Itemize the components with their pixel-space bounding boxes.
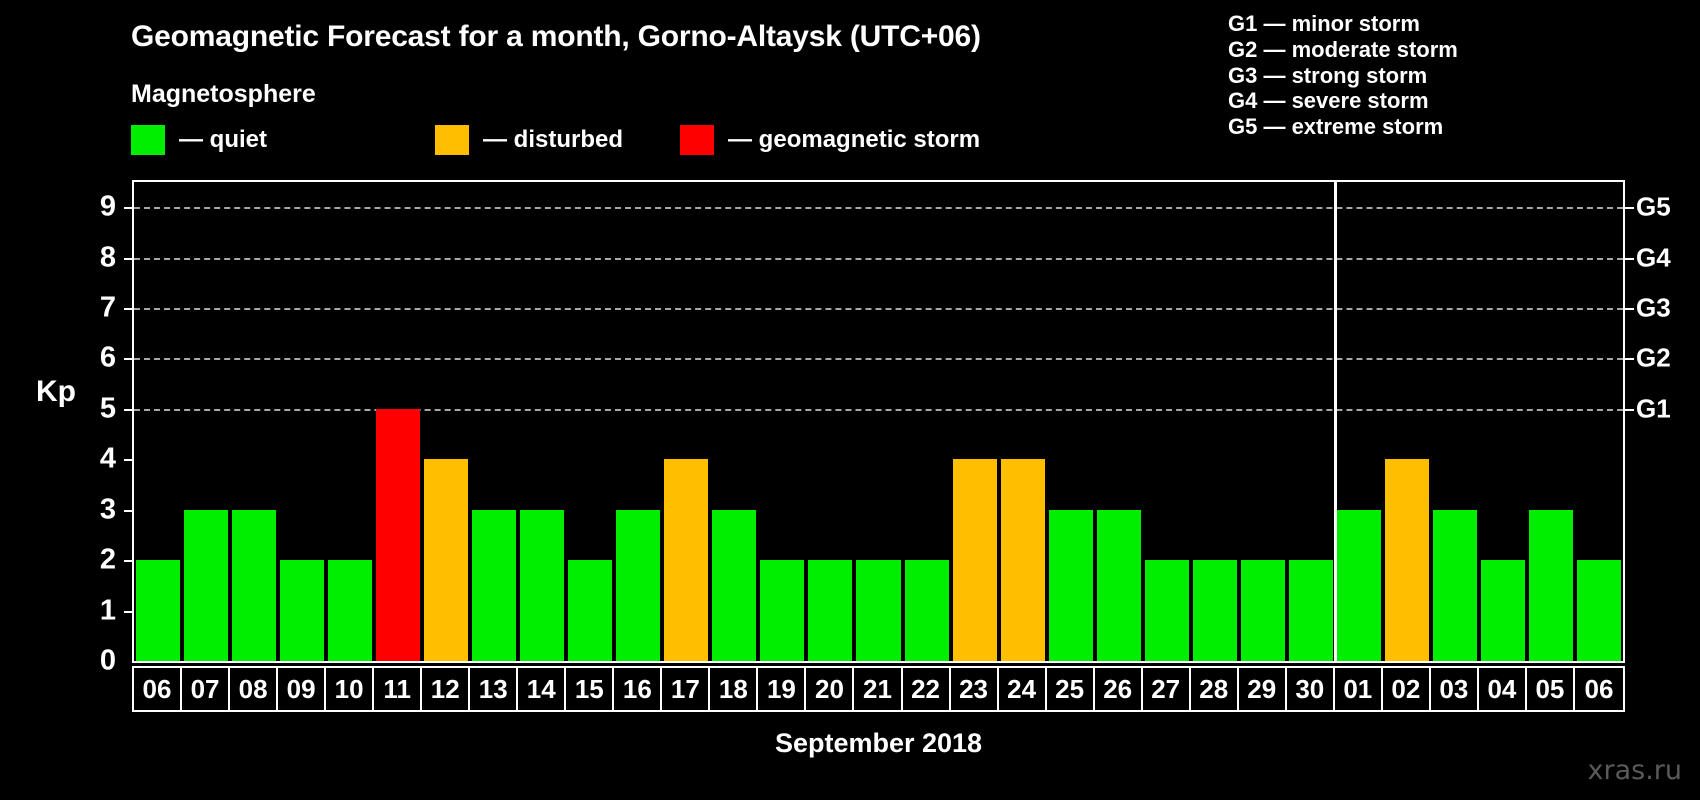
g-tick-mark-G5 [1623,207,1634,209]
y-tick-1: 1 [100,594,116,627]
g-tick-G5: G5 [1636,192,1671,223]
bar-02[interactable] [1385,459,1429,661]
y-tick-3: 3 [100,493,116,526]
y-tick-mark-8 [124,258,134,260]
legend-swatch-storm [680,125,714,155]
geomagnetic-forecast-chart: Geomagnetic Forecast for a month, Gorno-… [0,0,1700,800]
bar-04[interactable] [1481,560,1525,661]
bar-19[interactable] [760,560,804,661]
g-scale-legend: G1 — minor storm G2 — moderate storm G3 … [1228,11,1458,140]
bar-05[interactable] [1529,510,1573,661]
legend-heading: Magnetosphere [131,80,316,109]
y-tick-2: 2 [100,544,116,577]
date-cell-25[interactable]: 25 [1047,668,1095,710]
date-cell-22[interactable]: 22 [903,668,951,710]
bar-12[interactable] [424,459,468,661]
g-scale-line-g3: G3 — strong storm [1228,63,1458,89]
g-scale-line-g5: G5 — extreme storm [1228,114,1458,140]
bar-29[interactable] [1241,560,1285,661]
bar-03[interactable] [1433,510,1477,661]
date-cell-02[interactable]: 02 [1383,668,1431,710]
g-tick-mark-G4 [1623,258,1634,260]
g-scale-line-g2: G2 — moderate storm [1228,37,1458,63]
bar-25[interactable] [1049,510,1093,661]
date-cell-10[interactable]: 10 [326,668,374,710]
date-cell-01[interactable]: 01 [1335,668,1383,710]
bar-01[interactable] [1337,510,1381,661]
bar-27[interactable] [1145,560,1189,661]
page-title: Geomagnetic Forecast for a month, Gorno-… [131,20,981,54]
legend-item-disturbed: — disturbed [435,125,623,155]
g-scale-line-g1: G1 — minor storm [1228,11,1458,37]
date-cell-19[interactable]: 19 [758,668,806,710]
x-axis-caption: September 2018 [132,728,1625,759]
g-tick-G1: G1 [1636,393,1671,424]
legend-item-storm: — geomagnetic storm [680,125,980,155]
g-scale-line-g4: G4 — severe storm [1228,88,1458,114]
watermark: xras.ru [1588,755,1683,786]
date-cell-09[interactable]: 09 [278,668,326,710]
date-cell-12[interactable]: 12 [422,668,470,710]
bar-series [134,182,1623,661]
legend-label-quiet: — quiet [179,126,267,154]
magnetosphere-legend: — quiet — disturbed — geomagnetic storm [131,125,980,155]
g-tick-mark-G1 [1623,409,1634,411]
bar-22[interactable] [905,560,949,661]
date-cell-14[interactable]: 14 [518,668,566,710]
y-tick-mark-4 [124,459,134,461]
date-cell-08[interactable]: 08 [230,668,278,710]
bar-09[interactable] [280,560,324,661]
legend-item-quiet: — quiet [131,125,267,155]
date-cell-17[interactable]: 17 [662,668,710,710]
g-tick-G3: G3 [1636,293,1671,324]
date-cell-29[interactable]: 29 [1239,668,1287,710]
month-divider [1334,182,1337,661]
y-tick-8: 8 [100,241,116,274]
y-tick-0: 0 [100,645,116,678]
bar-08[interactable] [232,510,276,661]
legend-swatch-disturbed [435,125,469,155]
date-cell-06[interactable]: 06 [1575,668,1623,710]
bar-16[interactable] [616,510,660,661]
bar-10[interactable] [328,560,372,661]
bar-20[interactable] [808,560,852,661]
bar-26[interactable] [1097,510,1141,661]
date-cell-23[interactable]: 23 [951,668,999,710]
bar-24[interactable] [1001,459,1045,661]
y-tick-7: 7 [100,292,116,325]
bar-28[interactable] [1193,560,1237,661]
g-axis-ticks: G5G4G3G2G1 [1636,0,1700,800]
y-tick-mark-3 [124,510,134,512]
legend-label-storm: — geomagnetic storm [728,126,980,154]
g-tick-mark-G2 [1623,358,1634,360]
date-cell-28[interactable]: 28 [1191,668,1239,710]
bar-06[interactable] [1577,560,1621,661]
date-cell-20[interactable]: 20 [806,668,854,710]
y-tick-9: 9 [100,191,116,224]
date-cell-13[interactable]: 13 [470,668,518,710]
y-tick-mark-2 [124,560,134,562]
bar-30[interactable] [1289,560,1333,661]
y-tick-mark-6 [124,358,134,360]
x-axis-date-labels: 0607080910111213141516171819202122232425… [132,666,1625,712]
date-cell-11[interactable]: 11 [374,668,422,710]
bar-11[interactable] [376,409,420,661]
y-tick-mark-7 [124,308,134,310]
g-tick-G4: G4 [1636,242,1671,273]
bar-18[interactable] [712,510,756,661]
date-cell-30[interactable]: 30 [1287,668,1335,710]
bar-15[interactable] [568,560,612,661]
date-cell-05[interactable]: 05 [1527,668,1575,710]
g-tick-G2: G2 [1636,343,1671,374]
y-tick-5: 5 [100,392,116,425]
date-cell-06[interactable]: 06 [134,668,182,710]
plot-area [132,180,1625,663]
date-cell-07[interactable]: 07 [182,668,230,710]
y-axis-ticks: 9876543210 [70,0,116,800]
bar-06[interactable] [136,560,180,661]
y-tick-mark-5 [124,409,134,411]
bar-23[interactable] [953,459,997,661]
bar-07[interactable] [184,510,228,661]
date-cell-26[interactable]: 26 [1095,668,1143,710]
date-cell-04[interactable]: 04 [1479,668,1527,710]
date-cell-21[interactable]: 21 [854,668,902,710]
g-tick-mark-G3 [1623,308,1634,310]
legend-label-disturbed: — disturbed [483,126,623,154]
bar-21[interactable] [856,560,900,661]
date-cell-15[interactable]: 15 [566,668,614,710]
bar-13[interactable] [472,510,516,661]
bar-17[interactable] [664,459,708,661]
date-cell-03[interactable]: 03 [1431,668,1479,710]
legend-swatch-quiet [131,125,165,155]
y-tick-mark-9 [124,207,134,209]
date-cell-24[interactable]: 24 [999,668,1047,710]
date-cell-27[interactable]: 27 [1143,668,1191,710]
bar-14[interactable] [520,510,564,661]
y-tick-6: 6 [100,342,116,375]
date-cell-16[interactable]: 16 [614,668,662,710]
y-tick-4: 4 [100,443,116,476]
y-tick-mark-1 [124,611,134,613]
date-cell-18[interactable]: 18 [710,668,758,710]
